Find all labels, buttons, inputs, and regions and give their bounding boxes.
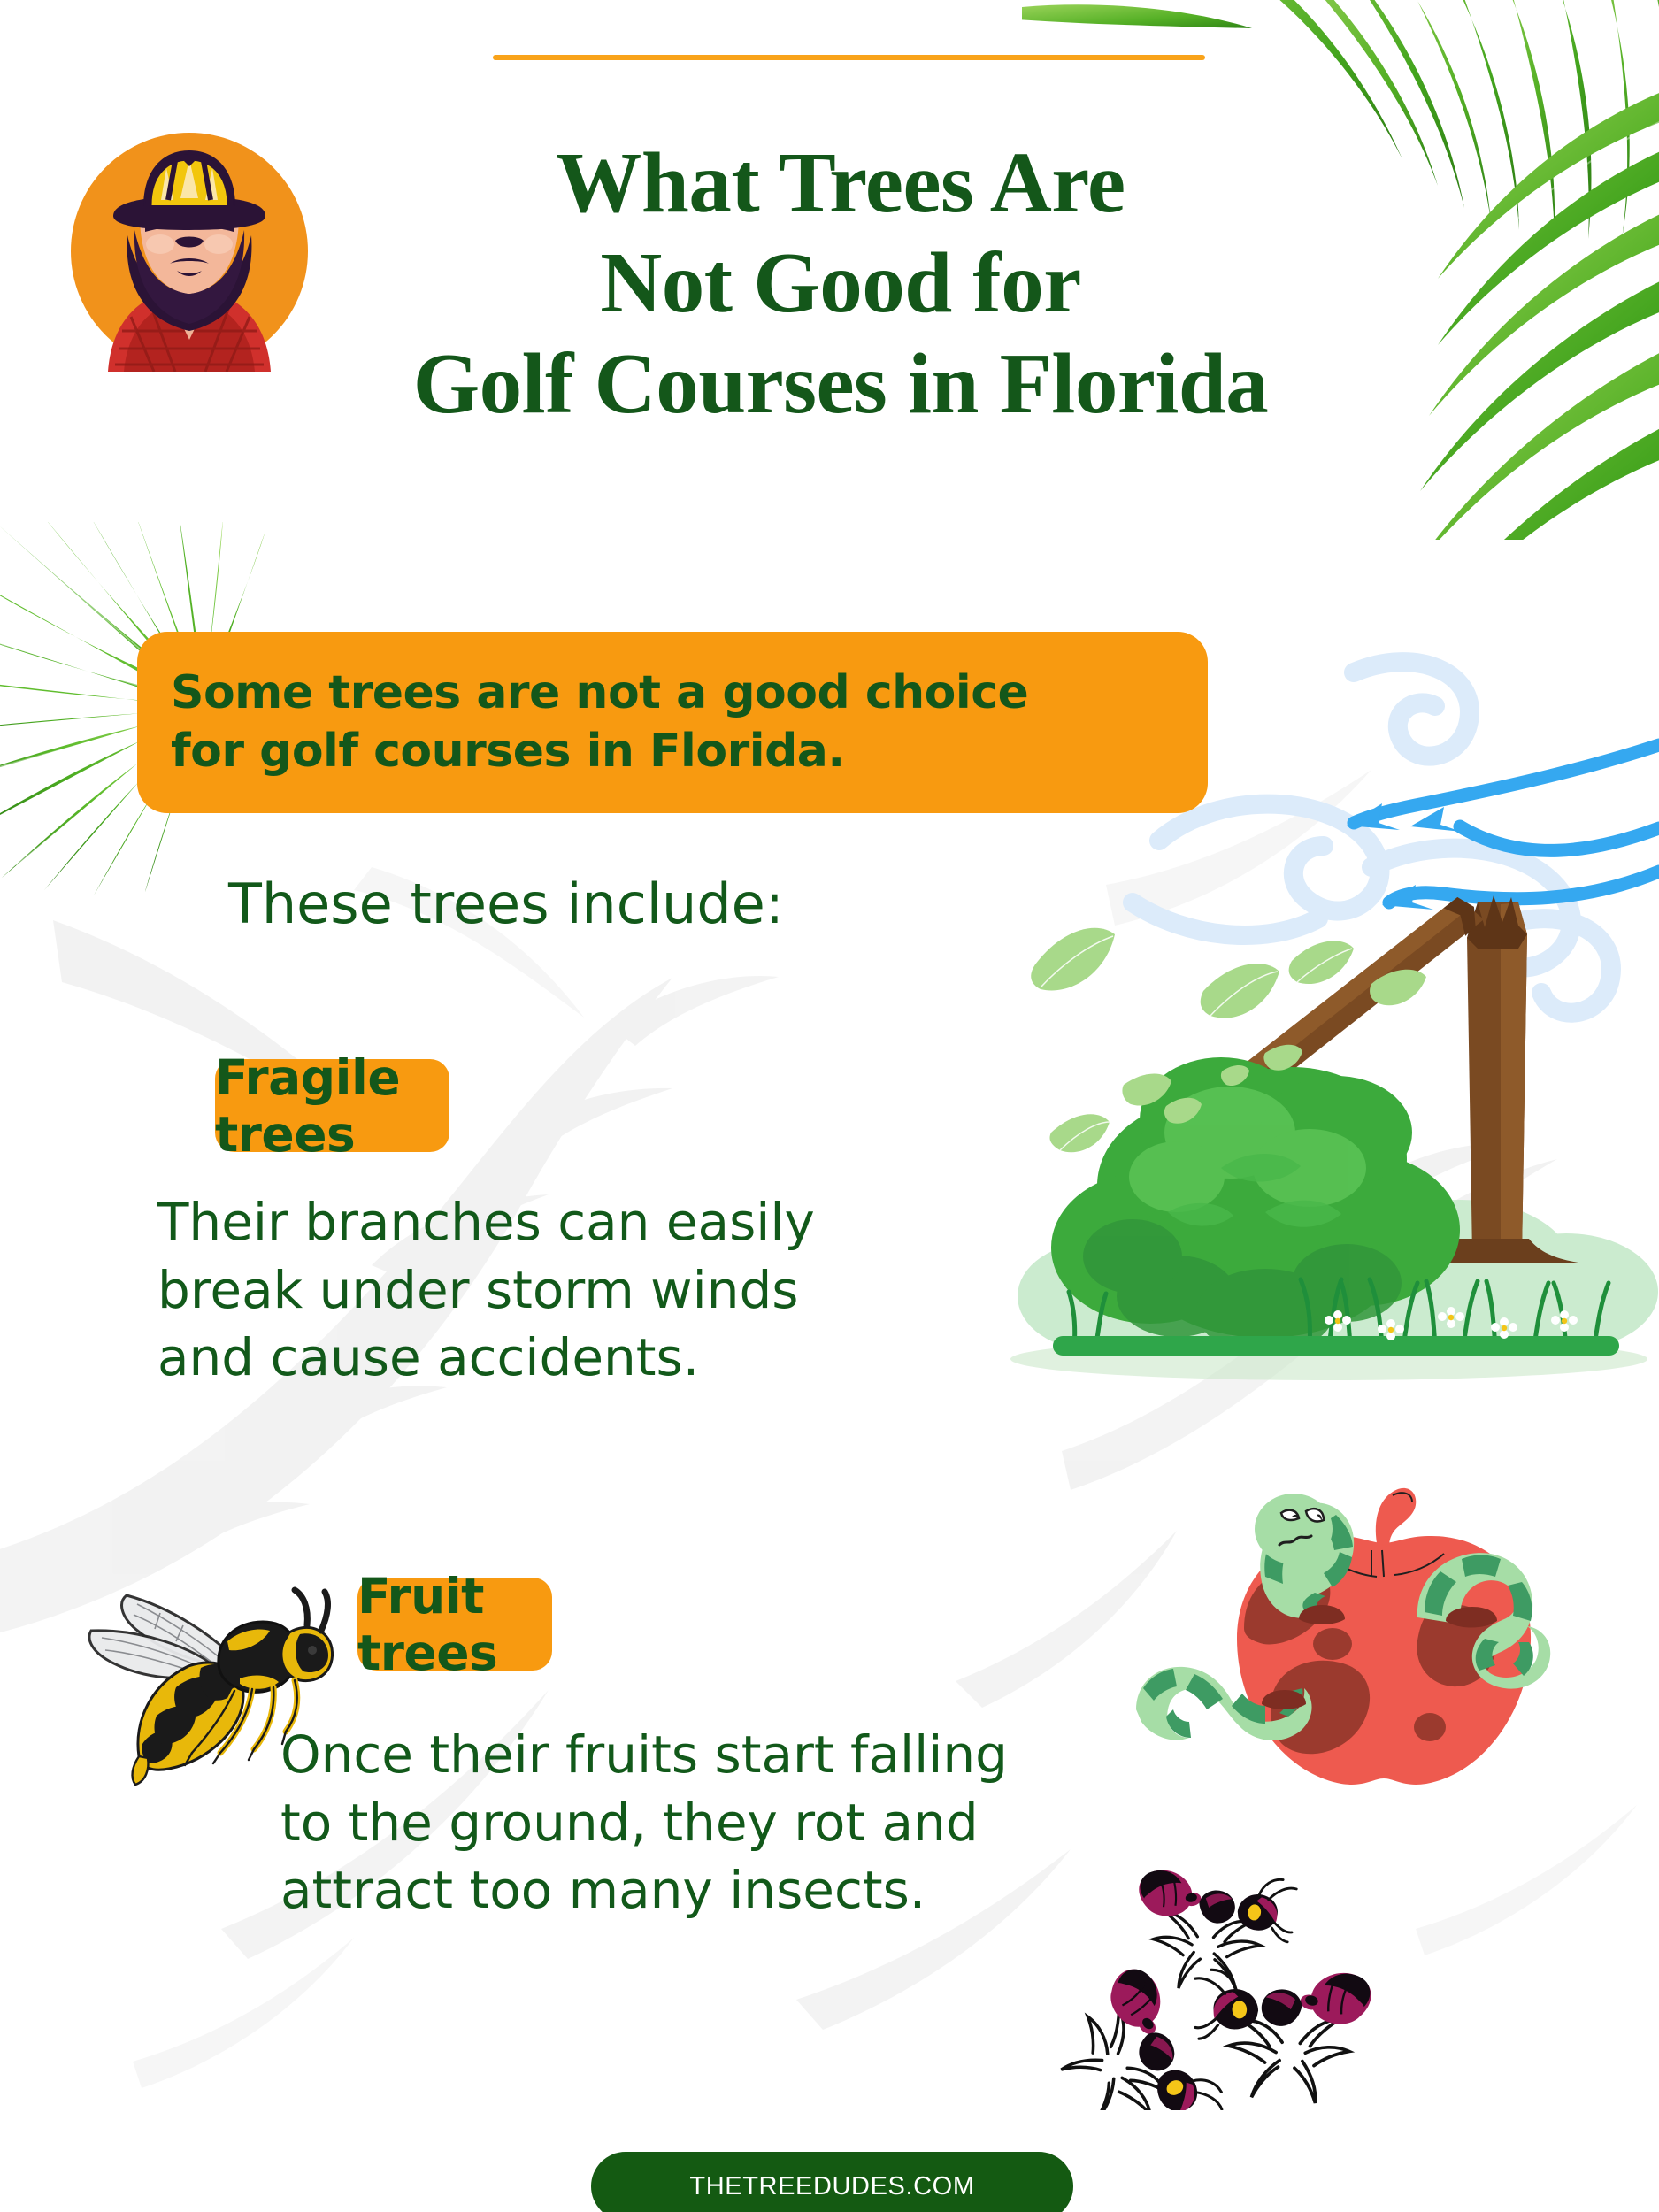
fruit-body-line-2: to the ground, they rot and: [280, 1789, 1008, 1857]
section-pill-fruit-trees: Fruit trees: [357, 1578, 552, 1671]
intro-banner: Some trees are not a good choice for gol…: [137, 632, 1208, 813]
section-pill-fragile-label: Fragile trees: [215, 1049, 449, 1163]
ants-icon: [1040, 1845, 1394, 2110]
section-body-fragile-trees: Their branches can easily break under st…: [157, 1188, 815, 1392]
lead-line: These trees include:: [228, 872, 784, 936]
page-title: What Trees Are Not Good for Golf Courses…: [265, 133, 1416, 434]
section-pill-fragile-trees: Fragile trees: [215, 1059, 449, 1152]
fragile-body-line-3: and cause accidents.: [157, 1324, 815, 1392]
footer-website-label: THETREEDUDES.COM: [689, 2172, 974, 2201]
title-line-2: Not Good for: [265, 233, 1416, 333]
fruit-body-line-3: attract too many insects.: [280, 1856, 1008, 1924]
tree-dudes-mascot-logo: [69, 131, 310, 372]
fruit-body-line-1: Once their fruits start falling: [280, 1721, 1008, 1789]
infographic-page: What Trees Are Not Good for Golf Courses…: [0, 0, 1659, 2212]
intro-banner-line-1: Some trees are not a good choice: [171, 664, 1028, 723]
section-body-fruit-trees: Once their fruits start falling to the g…: [280, 1721, 1008, 1924]
fragile-body-line-2: break under storm winds: [157, 1256, 815, 1325]
intro-banner-line-2: for golf courses in Florida.: [171, 723, 1028, 781]
orange-divider-rule: [493, 55, 1205, 60]
fragile-body-line-1: Their branches can easily: [157, 1188, 815, 1256]
intro-banner-text: Some trees are not a good choice for gol…: [137, 664, 1055, 780]
rotten-apple-with-worms-illustration: [1133, 1451, 1628, 1840]
title-line-1: What Trees Are: [265, 133, 1416, 233]
section-pill-fruit-label: Fruit trees: [357, 1568, 552, 1681]
footer-website-pill[interactable]: THETREEDUDES.COM: [591, 2152, 1073, 2212]
title-line-3: Golf Courses in Florida: [265, 334, 1416, 434]
